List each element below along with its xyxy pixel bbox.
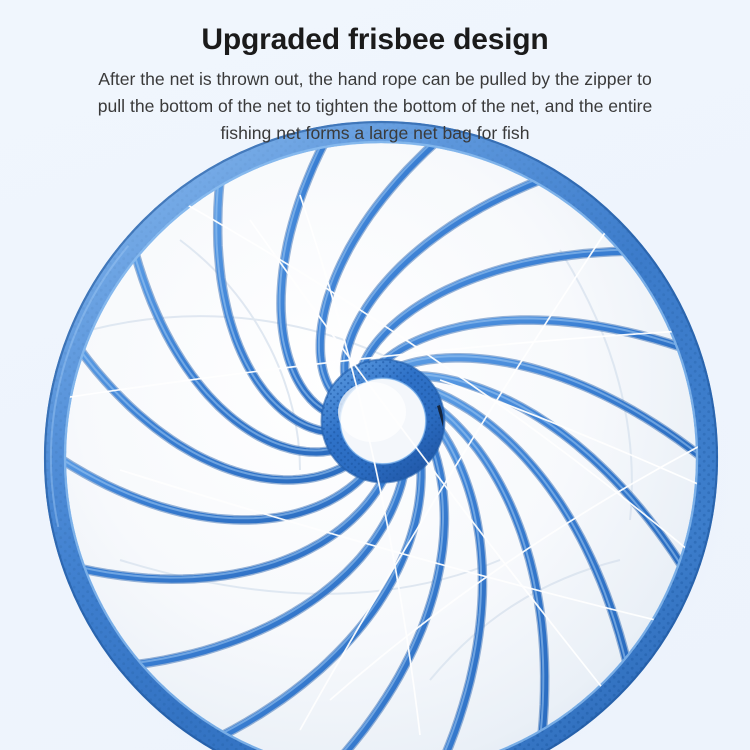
description-line-2: pull the bottom of the net to tighten th…	[25, 93, 725, 120]
description-line-1: After the net is thrown out, the hand ro…	[25, 66, 725, 93]
product-detail-page: Upgraded frisbee design After the net is…	[0, 0, 750, 750]
description-line-3: fishing net forms a large net bag for fi…	[25, 120, 725, 147]
page-title: Upgraded frisbee design	[0, 22, 750, 57]
page-description: After the net is thrown out, the hand ro…	[25, 66, 725, 146]
header-text-block: Upgraded frisbee design After the net is…	[0, 0, 750, 147]
